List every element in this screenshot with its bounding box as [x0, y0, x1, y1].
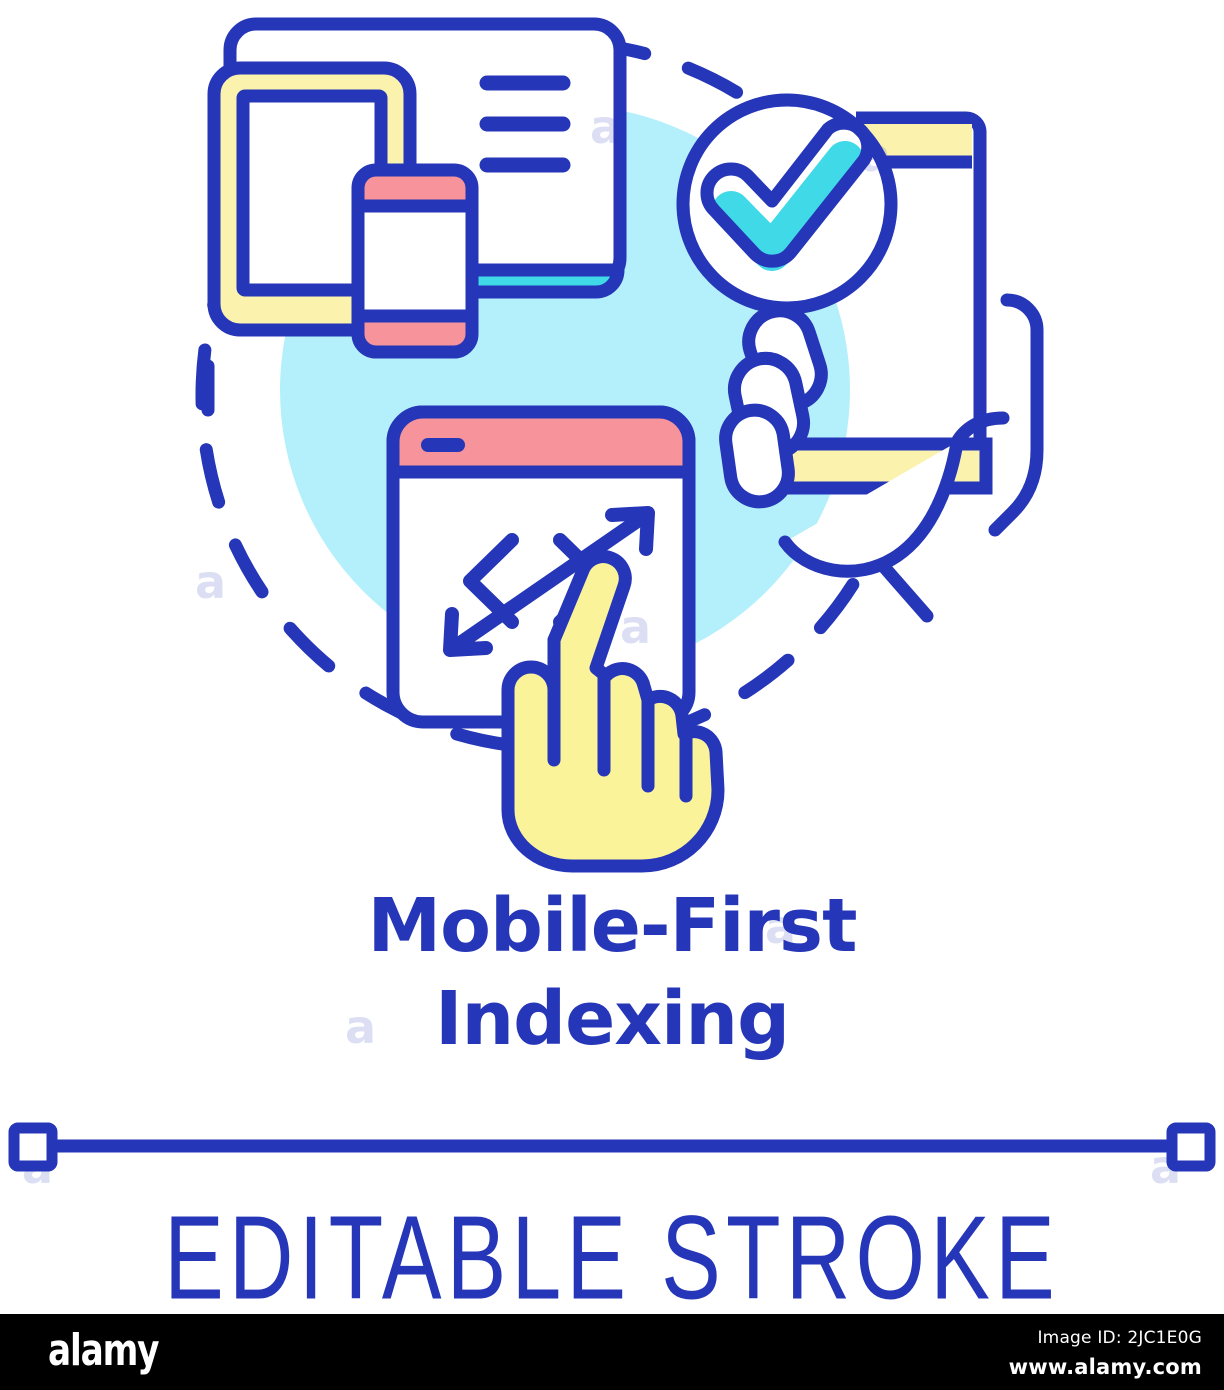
alamy-meta: Image ID: 2JC1E0G www.alamy.com	[1009, 1326, 1202, 1382]
stroke-bar-right-handle	[1172, 1128, 1210, 1166]
stock-image-page: a a a a a a a a Mobile-First Indexing ED…	[0, 0, 1224, 1390]
editable-stroke-label: EDITABLE STROKE	[86, 1195, 1139, 1320]
editable-stroke-width-bar	[8, 1118, 1216, 1174]
alamy-logo: alamy	[48, 1328, 158, 1374]
stroke-bar-left-handle	[14, 1128, 52, 1166]
alamy-watermark-bar: alamy Image ID: 2JC1E0G www.alamy.com	[0, 1314, 1224, 1390]
page-title: Mobile-First Indexing	[0, 880, 1224, 1066]
alamy-url: www.alamy.com	[1009, 1352, 1202, 1382]
concept-illustration	[0, 0, 1224, 880]
smartphone-device	[358, 170, 472, 352]
alamy-image-id: Image ID: 2JC1E0G	[1009, 1326, 1202, 1352]
